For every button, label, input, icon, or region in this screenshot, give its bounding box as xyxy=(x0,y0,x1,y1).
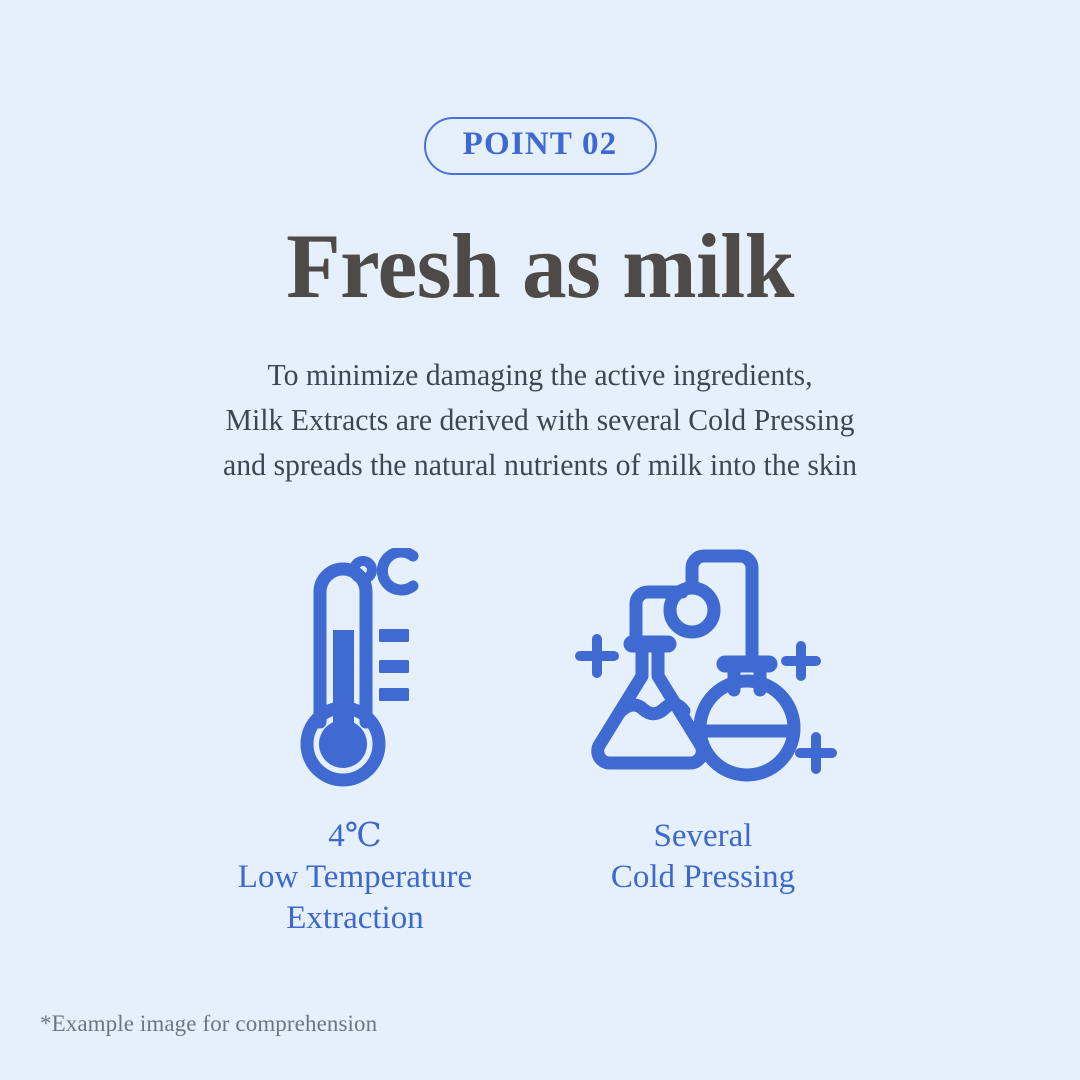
description-text: To minimize damaging the active ingredie… xyxy=(22,352,1059,487)
badge-container: POINT 02 xyxy=(0,117,1080,175)
feature-icon-row xyxy=(0,548,1080,808)
page-title: Fresh as milk xyxy=(16,218,1064,315)
feature-icon-cell-temperature xyxy=(228,548,484,798)
feature-caption-pressing: Several Cold Pressing xyxy=(553,816,853,898)
description-line-1: To minimize damaging the active ingredie… xyxy=(22,352,1059,397)
caption-line-3: Extraction xyxy=(205,898,505,939)
caption-line-2: Low Temperature xyxy=(205,857,505,898)
description-line-3: and spreads the natural nutrients of mil… xyxy=(22,442,1059,487)
footnote-text: *Example image for comprehension xyxy=(40,1011,377,1037)
caption-line-1: Several xyxy=(553,816,853,857)
promo-card: POINT 02 Fresh as milk To minimize damag… xyxy=(0,0,1080,1080)
point-badge: POINT 02 xyxy=(424,117,657,175)
lab-flasks-icon xyxy=(564,548,844,788)
feature-caption-temperature: 4℃ Low Temperature Extraction xyxy=(205,816,505,939)
feature-icon-cell-pressing xyxy=(556,548,852,798)
caption-line-1: 4℃ xyxy=(205,816,505,857)
caption-line-2: Cold Pressing xyxy=(553,857,853,898)
description-line-2: Milk Extracts are derived with several C… xyxy=(22,397,1059,442)
thermometer-icon xyxy=(286,548,426,788)
